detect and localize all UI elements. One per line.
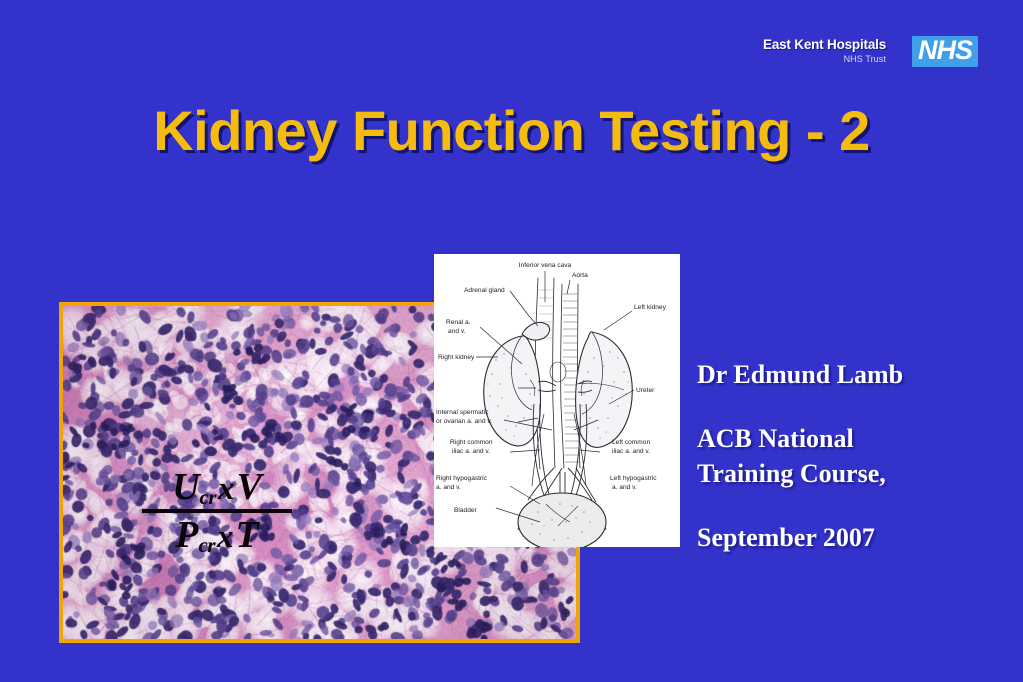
slide-canvas: East Kent Hospitals NHS Trust NHS Kidney… [0, 0, 1023, 682]
course-line-2: Training Course, [697, 457, 1007, 491]
label-right-common-iliac-line1: Right common [450, 439, 493, 446]
formula-ucr-subscript: cr [200, 485, 217, 509]
label-internal-spermatic-line1: Internal spermatic [436, 409, 489, 416]
anatomy-svg: Inferior vena cava Aorta Adrenal gland L… [434, 254, 680, 547]
label-internal-spermatic-line2: or ovarian a. and v. [436, 418, 492, 425]
formula-pcr-subscript: cr [199, 533, 216, 557]
label-adrenal-gland: Adrenal gland [464, 287, 505, 294]
label-right-kidney: Right kidney [438, 354, 475, 361]
label-left-kidney: Left kidney [634, 304, 667, 311]
formula-time: T [236, 514, 259, 556]
course-line-1: ACB National [697, 422, 1007, 456]
formula-ucr: U [172, 466, 199, 508]
nhs-logo-text: NHS [918, 37, 972, 64]
label-renal-vessels-line2: and v. [448, 328, 466, 335]
label-renal-vessels-line1: Renal a. [446, 319, 471, 326]
course-date: September 2007 [697, 521, 1007, 555]
label-right-common-iliac-line2: iliac a. and v. [452, 448, 490, 455]
label-aorta: Aorta [572, 272, 588, 279]
label-left-common-iliac-line1: Left common [612, 439, 650, 446]
formula-fraction-bar [142, 509, 292, 513]
formula-numerator-operator: x [216, 471, 237, 507]
trust-name-block: East Kent Hospitals NHS Trust [763, 38, 886, 64]
label-bladder: Bladder [454, 507, 478, 514]
formula-volume: V [237, 466, 262, 508]
date-block: September 2007 [697, 521, 1007, 555]
formula-pcr: P [175, 514, 198, 556]
nhs-logo: NHS [912, 36, 978, 67]
creatinine-clearance-formula: UcrxV PcrxT [142, 468, 292, 555]
label-left-common-iliac-line2: iliac a. and v. [612, 448, 650, 455]
label-ureter: Ureter [636, 387, 655, 394]
course-block: ACB National Training Course, [697, 422, 1007, 491]
slide-title: Kidney Function Testing - 2 [0, 98, 1023, 163]
urinary-tract-diagram: Inferior vena cava Aorta Adrenal gland L… [434, 254, 680, 547]
label-right-hypogastric-line2: a. and v. [436, 484, 461, 491]
trust-name: East Kent Hospitals [763, 38, 886, 52]
label-left-hypogastric-line1: Left hypogastric [610, 475, 657, 482]
trust-subtitle: NHS Trust [763, 55, 886, 64]
label-left-hypogastric-line2: a. and v. [612, 484, 637, 491]
formula-denominator-operator: x [215, 519, 236, 555]
presenter-block: Dr Edmund Lamb [697, 358, 1007, 392]
presenter-name: Dr Edmund Lamb [697, 358, 1007, 392]
label-inferior-vena-cava: Inferior vena cava [519, 262, 572, 269]
presenter-byline: Dr Edmund Lamb ACB National Training Cou… [697, 358, 1007, 555]
formula-denominator: PcrxT [142, 516, 292, 555]
formula-numerator: UcrxV [142, 468, 292, 507]
nhs-branding: East Kent Hospitals NHS Trust NHS [728, 38, 978, 74]
label-right-hypogastric-line1: Right hypogastric [436, 475, 488, 482]
